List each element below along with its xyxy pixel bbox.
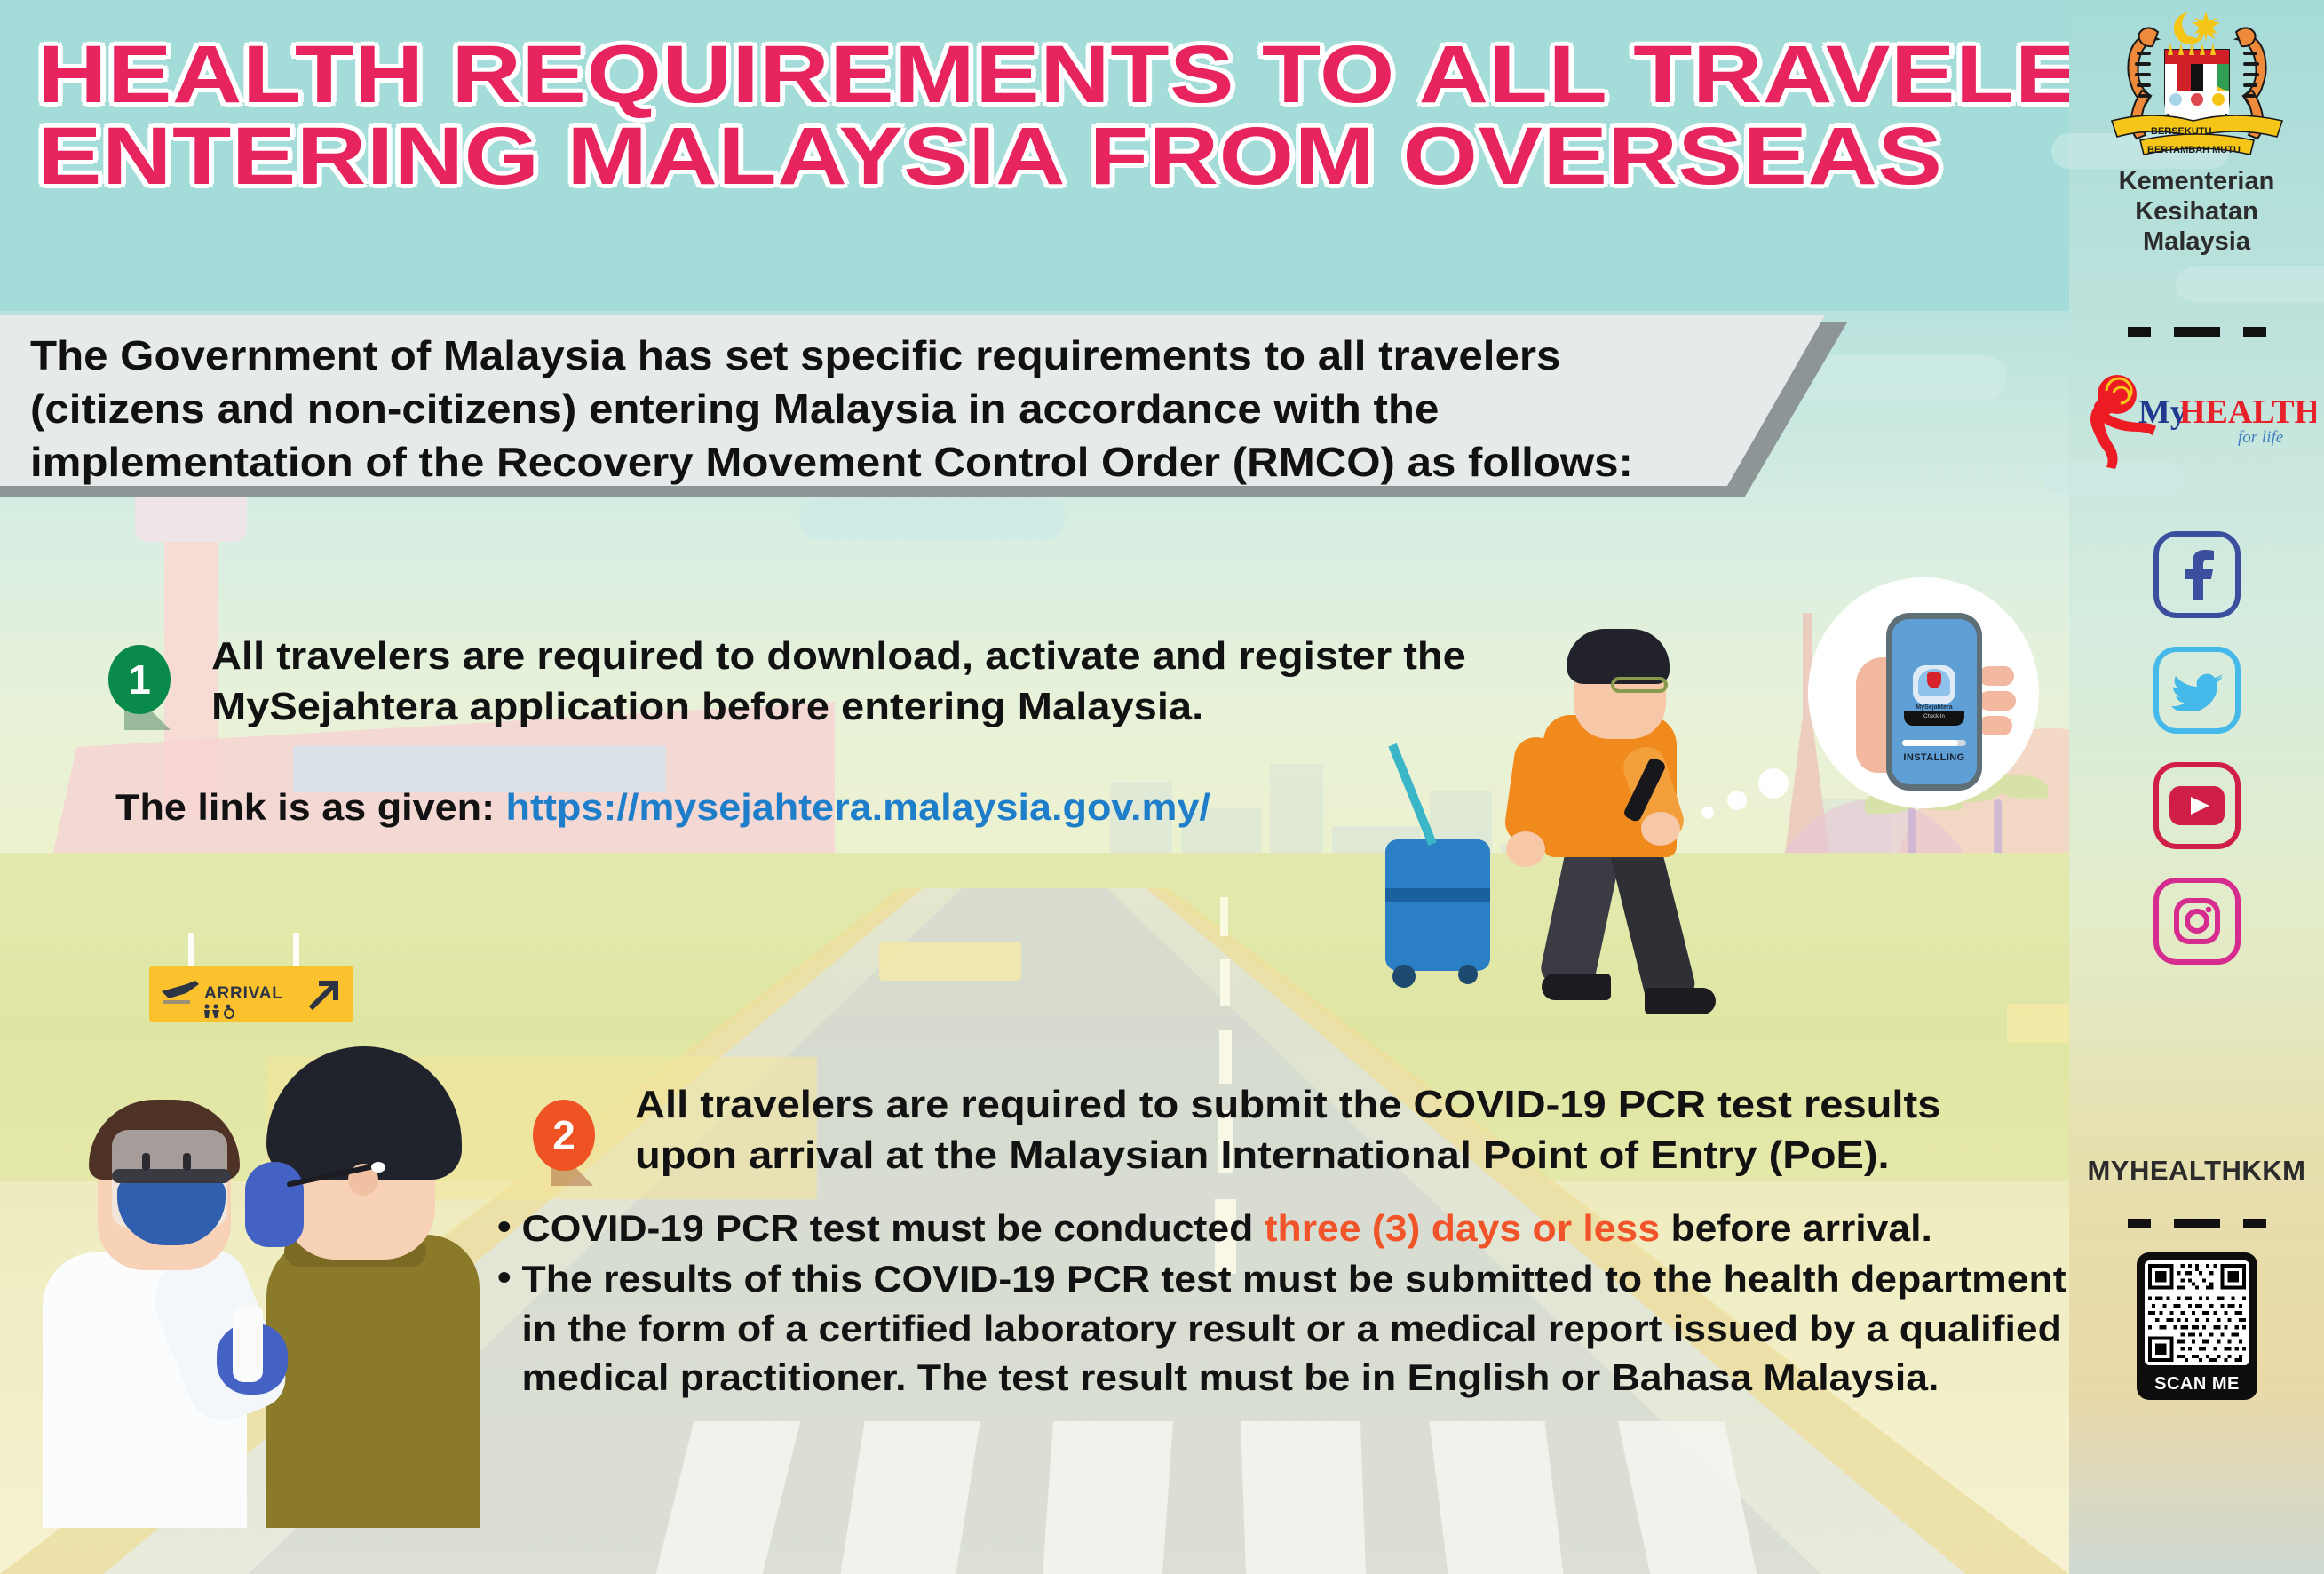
social-facebook[interactable] [2069,531,2324,618]
ministry-name: Kementerian Kesihatan Malaysia [2069,167,2324,258]
traveler-leg [1607,831,1698,1007]
test-tube [233,1308,263,1382]
intro-paragraph: The Government of Malaysia has set speci… [30,330,1836,489]
mysejahtera-app-icon [1913,665,1955,704]
arrow-up-right-icon [305,974,345,1014]
bubble-dot [1727,791,1747,810]
worker-eye [142,1153,150,1171]
hand-finger [1979,691,2016,711]
facebook-icon [2177,549,2217,600]
worker-mask-strap [112,1169,231,1183]
smartphone-mockup: MySejahtera Check In INSTALLING [1886,613,1982,791]
point-1-text: All travelers are required to download, … [211,631,1590,732]
badge-number-2: 2 [533,1100,595,1171]
patient-hair [266,1046,462,1180]
point-1-line-2: MySejahtera application before entering … [211,681,1590,732]
right-sidebar: BERSEKUTU BERTAMBAH MUTU Kementerian Kes… [2069,0,2324,1574]
worker-eye [183,1153,191,1171]
worker-glove [245,1162,304,1247]
bullet-2-text: The results of this COVID-19 PCR test mu… [522,1258,2066,1398]
intro-band: The Government of Malaysia has set speci… [0,315,1847,493]
traveler-glasses [1611,677,1668,693]
restroom-accessible-icons [201,1004,250,1020]
bubble-dot [1701,807,1714,819]
divider-dash [2174,327,2220,337]
bullet-item: The results of this COVID-19 PCR test mu… [497,1254,2088,1402]
divider-dash [2174,1219,2220,1228]
social-youtube[interactable] [2069,762,2324,849]
divider-dash [2128,1219,2151,1228]
logo-health-text: HEALTH [2179,393,2316,431]
page-title: HEALTH REQUIREMENTS TO ALL TRAVELERS ENT… [37,34,2324,197]
app-crest-mini [1927,672,1941,688]
crosswalk-stripe [1043,1421,1173,1574]
bullet-1-highlight: three (3) days or less [1265,1207,1660,1249]
myhealth-logo-mark: My HEALTH for life [2080,371,2316,469]
suitcase-band [1385,888,1490,902]
ministry-line-1: Kementerian [2069,167,2324,197]
crest-motto-bottom: BERTAMBAH MUTU [2147,145,2241,155]
divider-dash [2128,327,2151,337]
runway-dash [1220,959,1230,1006]
crosswalk-stripe [1429,1421,1563,1574]
patient-body [266,1235,480,1528]
qr-code-card[interactable]: SCAN ME [2137,1252,2257,1400]
arrival-sign-label: ARRIVAL [204,984,283,1004]
badge-number-1: 1 [108,645,171,714]
link-prefix-label: The link is as given: [115,786,506,828]
social-instagram[interactable] [2069,878,2324,965]
arrival-sign: ARRIVAL [149,966,353,1022]
social-twitter[interactable] [2069,647,2324,734]
myhealth-logo: My HEALTH for life [2080,371,2316,469]
arrival-sign-pole [293,933,299,968]
youtube-icon [2169,786,2225,825]
traveler-shoe [1542,974,1611,1000]
title-line-1: HEALTH REQUIREMENTS TO ALL TRAVELERS [37,34,2324,115]
instagram-icon [2174,898,2220,944]
scan-me-label: SCAN ME [2137,1374,2257,1395]
ministry-line-2: Kesihatan [2069,197,2324,227]
cloud-shape [2176,266,2324,302]
hand-finger [1979,716,2012,735]
bullet-1-after: before arrival. [1660,1207,1932,1249]
install-progress-bar [1902,740,1966,746]
badge-2-label: 2 [552,1111,575,1159]
logo-tagline-text: for life [2238,428,2283,447]
badge-1-label: 1 [128,656,151,704]
crosswalk-stripe [840,1421,980,1574]
hand-finger [1979,666,2014,686]
infographic-poster: HEALTH REQUIREMENTS TO ALL TRAVELERS ENT… [0,0,2324,1574]
ministry-line-3: Malaysia [2069,227,2324,258]
traveler-shoe [1645,988,1716,1014]
point-2-line-1: All travelers are required to submit the… [635,1079,2089,1130]
phone-screen: MySejahtera Check In INSTALLING [1892,619,1977,784]
intro-line-3: implementation of the Recovery Movement … [30,436,1836,489]
suitcase-wheel [1392,965,1416,988]
traveler-hand [1641,812,1680,846]
dashed-divider-bottom [2069,1219,2324,1228]
bullet-item: COVID-19 PCR test must be conducted thre… [497,1204,2088,1252]
traveler-hand [1506,831,1545,867]
qr-pattern [2145,1260,2249,1365]
malaysia-coat-of-arms: BERSEKUTU BERTAMBAH MUTU [2089,7,2305,167]
installing-label: INSTALLING [1892,752,1977,763]
bubble-dot [1758,768,1789,799]
mysejahtera-link[interactable]: https://mysejahtera.malaysia.gov.my/ [506,786,1210,828]
suitcase [1385,839,1490,971]
app-action-label: Check In [1892,714,1977,719]
dashed-divider-top [2069,327,2324,337]
runway-dash [1219,1030,1232,1084]
twitter-icon [2171,669,2223,711]
cloud-shape [799,497,1066,540]
swab-test-illustration [0,1030,551,1528]
suitcase-wheel [1458,965,1478,984]
point-1-line-1: All travelers are required to download, … [211,631,1590,681]
swab-tip [371,1162,385,1173]
app-name-label: MySejahtera [1892,704,1977,711]
qr-code-image [2145,1260,2249,1365]
title-line-2: ENTERING MALAYSIA FROM OVERSEAS [37,115,2324,197]
intro-line-2: (citizens and non-citizens) entering Mal… [30,383,1836,436]
point-2-line-2: upon arrival at the Malaysian Internatio… [635,1130,2089,1180]
point-2-bullets: COVID-19 PCR test must be conducted thre… [497,1204,2088,1404]
mysejahtera-link-row: The link is as given: https://mysejahter… [115,786,1541,829]
taxiway-marking [879,942,1021,981]
bullet-1-before: COVID-19 PCR test must be conducted [522,1207,1265,1249]
runway-dash [1220,897,1228,936]
social-handle: MYHEALTHKKM [2069,1155,2324,1187]
intro-line-1: The Government of Malaysia has set speci… [30,330,1836,383]
crosswalk-stripe [1241,1421,1366,1574]
point-2-text: All travelers are required to submit the… [635,1079,2089,1180]
arrival-sign-pole [188,933,194,968]
airplane-landing-icon [160,977,202,1007]
crest-motto-top: BERSEKUTU [2151,126,2212,137]
divider-dash [2243,327,2266,337]
divider-dash [2243,1219,2266,1228]
